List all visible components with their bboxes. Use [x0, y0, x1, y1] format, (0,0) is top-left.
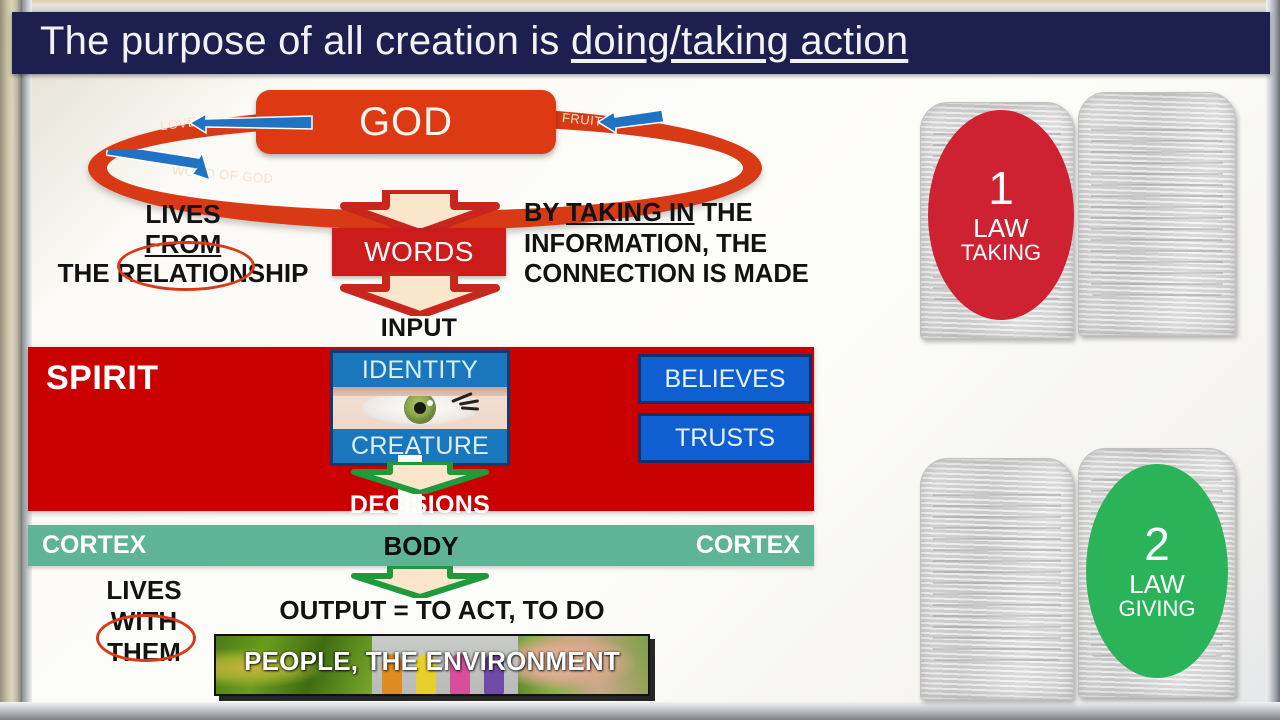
- tablet-group-two: 2 LAW GIVING: [920, 448, 1250, 703]
- law-two-line-1: LAW: [1129, 571, 1184, 598]
- photo-strip-hands-right: [518, 636, 648, 694]
- tablet-left-2: [920, 458, 1074, 700]
- words-box: WORDS: [332, 228, 506, 276]
- by-taking-tail: THE: [695, 199, 753, 227]
- figurine-yellow: [416, 654, 436, 694]
- by-taking-underlined: TAKING IN: [566, 199, 694, 227]
- figurine-purple: [484, 654, 504, 694]
- law-badge-two: 2 LAW GIVING: [1086, 464, 1228, 678]
- words-label: WORDS: [364, 236, 474, 268]
- by-taking-plain: BY: [524, 199, 566, 227]
- down-arrow-to-output-icon: [346, 566, 494, 598]
- identity-label: IDENTITY: [333, 353, 507, 387]
- law-one-line-2: TAKING: [961, 242, 1041, 265]
- cortex-right-label: CORTEX: [696, 531, 800, 560]
- tablet-group-one: 1 LAW TAKING: [920, 92, 1250, 342]
- by-taking-line-3: CONNECTION IS MADE: [524, 259, 872, 290]
- tablet-right-1: [1078, 92, 1236, 336]
- figurine-orange: [382, 654, 402, 694]
- cortex-body-bar: CORTEX BODY CORTEX: [28, 525, 814, 566]
- down-arrow-words-to-input-icon: [336, 272, 504, 316]
- down-arrow-to-decisions-icon: [346, 462, 494, 494]
- lives-with-line-1: LIVES: [64, 575, 224, 606]
- decisions-label: DECISIONS: [330, 491, 510, 520]
- by-taking-in-text: BY TAKING IN THE INFORMATION, THE CONNEC…: [524, 198, 872, 290]
- by-taking-line-1: BY TAKING IN THE: [524, 198, 872, 229]
- photo-strip-figurines: [372, 636, 519, 694]
- eye-upper-lid: [333, 387, 507, 396]
- eye-pupil: [414, 402, 426, 414]
- law-two-number: 2: [1144, 521, 1170, 569]
- identity-creature-block: IDENTITY CREATURE: [330, 350, 510, 466]
- page-title: The purpose of all creation is doing/tak…: [40, 19, 908, 64]
- law-two-line-2: GIVING: [1118, 598, 1195, 621]
- blue-arrow-fruit-icon: [598, 108, 668, 134]
- blue-arrow-love-icon: [190, 110, 320, 138]
- photo-strip-nature-left: [216, 636, 372, 694]
- spirit-label: SPIRIT: [46, 359, 159, 398]
- slide-border-right: [1266, 0, 1280, 720]
- figurine-pink: [450, 654, 470, 694]
- law-badge-one: 1 LAW TAKING: [928, 110, 1074, 320]
- title-plain: The purpose of all creation is: [40, 19, 571, 63]
- title-underlined: doing/taking action: [571, 19, 908, 63]
- slide-canvas: The purpose of all creation is doing/tak…: [0, 0, 1280, 720]
- tablet-lines: [1091, 122, 1222, 296]
- eye-image: [333, 387, 507, 429]
- photo-strip: [214, 634, 650, 696]
- god-label: GOD: [359, 100, 453, 145]
- blue-arrow-word-icon: [106, 150, 216, 184]
- law-one-line-1: LAW: [973, 215, 1028, 242]
- law-one-number: 1: [988, 165, 1014, 213]
- by-taking-line-2: INFORMATION, THE: [524, 229, 872, 260]
- title-banner: The purpose of all creation is doing/tak…: [12, 12, 1270, 74]
- lives-from-line-1: LIVES: [38, 200, 328, 230]
- believes-box: BELIEVES: [638, 354, 812, 404]
- input-label: INPUT: [332, 314, 506, 343]
- highlight-ellipse-from: [117, 241, 255, 291]
- slide-border-bottom: [0, 702, 1280, 720]
- tablet-lines: [933, 488, 1061, 661]
- output-label: OUTPUT = TO ACT, TO DO: [232, 595, 652, 626]
- slide-border-left: [0, 0, 22, 720]
- eye-glint: [427, 400, 433, 406]
- highlight-ellipse-with: [96, 614, 196, 662]
- trusts-box: TRUSTS: [638, 413, 812, 463]
